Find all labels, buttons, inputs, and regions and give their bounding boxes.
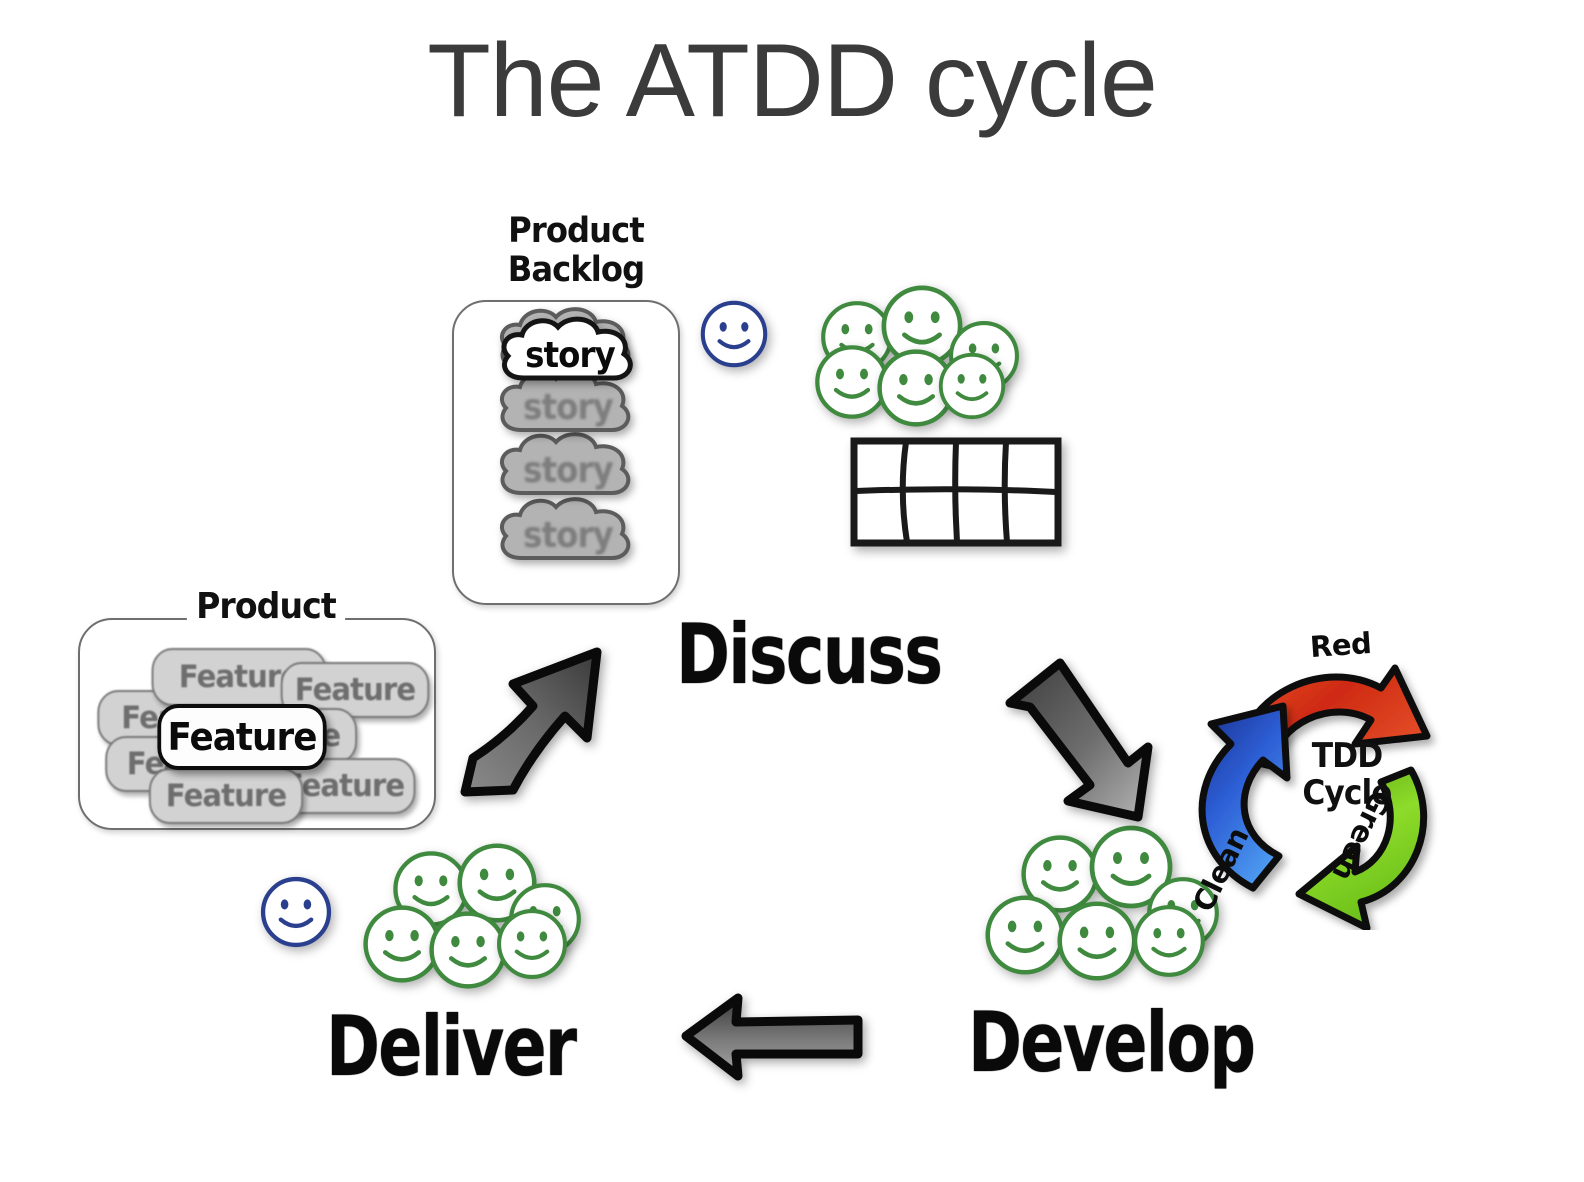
team-cluster-discuss — [812, 280, 1022, 420]
feature-card[interactable]: Feature — [149, 768, 303, 824]
feature-card-active[interactable]: Feature — [157, 704, 326, 770]
team-smiley-icon — [1054, 898, 1140, 984]
product-backlog-label: Product Backlog — [478, 212, 673, 290]
customer-smiley-icon — [258, 874, 334, 950]
slide-canvas: The ATDD cycle Product Backlog story sto… — [0, 0, 1584, 1182]
team-smiley-icon — [494, 906, 570, 982]
feature-card-label: Feature — [295, 672, 415, 708]
tdd-step-label-red: Red — [1309, 626, 1372, 664]
story-card-label: story — [498, 310, 642, 400]
phase-label-develop: Develop — [968, 995, 1254, 1091]
feature-card-label: Feature — [166, 778, 286, 814]
page-title: The ATDD cycle — [0, 24, 1584, 138]
team-cluster-deliver — [356, 840, 576, 982]
product-label: Product — [187, 586, 345, 627]
phase-label-deliver: Deliver — [326, 999, 575, 1095]
flow-arrow-discuss-to-develop — [998, 655, 1158, 830]
flow-arrow-deliver-to-discuss — [455, 640, 625, 800]
feature-card-label: Feature — [167, 715, 316, 759]
phase-label-discuss: Discuss — [676, 607, 941, 703]
story-card-active[interactable]: story — [490, 310, 650, 400]
team-smiley-icon — [936, 350, 1008, 422]
acceptance-test-table-icon — [850, 437, 1062, 547]
flow-arrow-develop-to-deliver — [676, 988, 866, 1084]
customer-smiley-icon — [698, 298, 770, 370]
